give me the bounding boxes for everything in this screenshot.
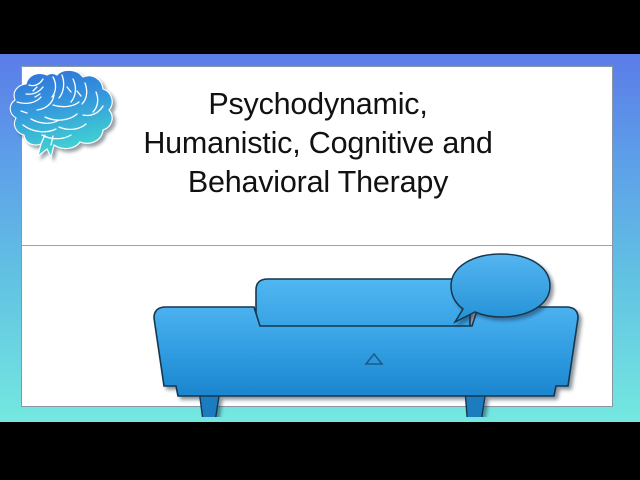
speech-bubble-icon xyxy=(417,250,577,340)
title-line-1: Psychodynamic, xyxy=(22,85,614,124)
slide-gradient-border: Psychodynamic, Humanistic, Cognitive and… xyxy=(0,54,640,422)
slide-stage: Psychodynamic, Humanistic, Cognitive and… xyxy=(0,0,640,480)
slide-white-card: Psychodynamic, Humanistic, Cognitive and… xyxy=(21,66,613,407)
title-line-3: Behavioral Therapy xyxy=(22,163,614,202)
page-title: Psychodynamic, Humanistic, Cognitive and… xyxy=(22,85,614,202)
title-line-2: Humanistic, Cognitive and xyxy=(22,124,614,163)
